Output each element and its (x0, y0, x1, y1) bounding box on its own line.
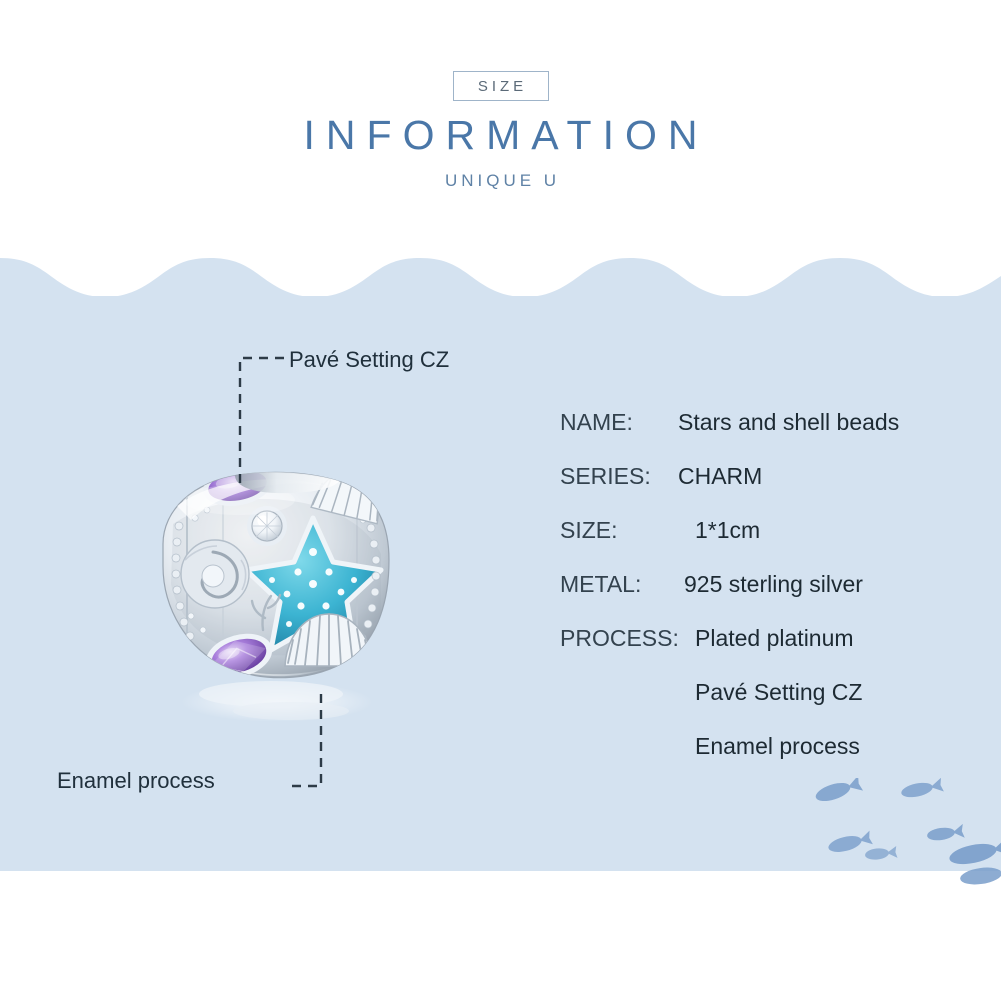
spec-row-series: SERIES: CHARM (560, 464, 990, 518)
spec-label-size: SIZE: (560, 518, 618, 543)
page-subtitle: UNIQUE U (0, 172, 1001, 191)
spec-label-process: PROCESS: (560, 626, 679, 651)
size-badge-label: SIZE (474, 79, 527, 94)
spec-value-process-extra-1: Pavé Setting CZ (695, 680, 862, 705)
wave-divider-top-icon (0, 250, 1001, 300)
spec-row-metal: METAL: 925 sterling silver (560, 572, 990, 626)
spec-value-name: Stars and shell beads (678, 410, 899, 435)
spec-label-metal: METAL: (560, 572, 641, 597)
annotation-label-enamel-process: Enamel process (57, 770, 215, 792)
spec-row-size: SIZE: 1*1cm (560, 518, 990, 572)
spec-label-name: NAME: (560, 410, 633, 435)
spec-value-process-extra-2: Enamel process (695, 734, 860, 759)
spec-value-metal: 925 sterling silver (684, 572, 863, 597)
spec-value-size: 1*1cm (695, 518, 760, 543)
product-spec-list: NAME: Stars and shell beads SERIES: CHAR… (560, 410, 990, 788)
annotation-label-pave-setting: Pavé Setting CZ (289, 349, 449, 371)
charm-bead-illustration (143, 466, 411, 756)
spec-row-process: PROCESS: Plated platinum (560, 626, 990, 680)
spec-row-process-extra-1: Pavé Setting CZ (560, 680, 990, 734)
page-header: SIZE INFORMATION UNIQUE U (0, 0, 1001, 240)
spec-label-series: SERIES: (560, 464, 651, 489)
spec-value-process: Plated platinum (695, 626, 854, 651)
product-info-page: SIZE INFORMATION UNIQUE U (0, 0, 1001, 1001)
annotation-leader-pave-icon (232, 350, 292, 490)
spec-value-series: CHARM (678, 464, 762, 489)
spec-row-name: NAME: Stars and shell beads (560, 410, 990, 464)
annotation-leader-enamel-icon (280, 694, 340, 794)
product-image (143, 466, 411, 756)
size-badge: SIZE (453, 71, 549, 101)
page-title: INFORMATION (0, 113, 1001, 158)
fish-school-icon (815, 778, 1001, 890)
page-footer (0, 917, 1001, 1001)
